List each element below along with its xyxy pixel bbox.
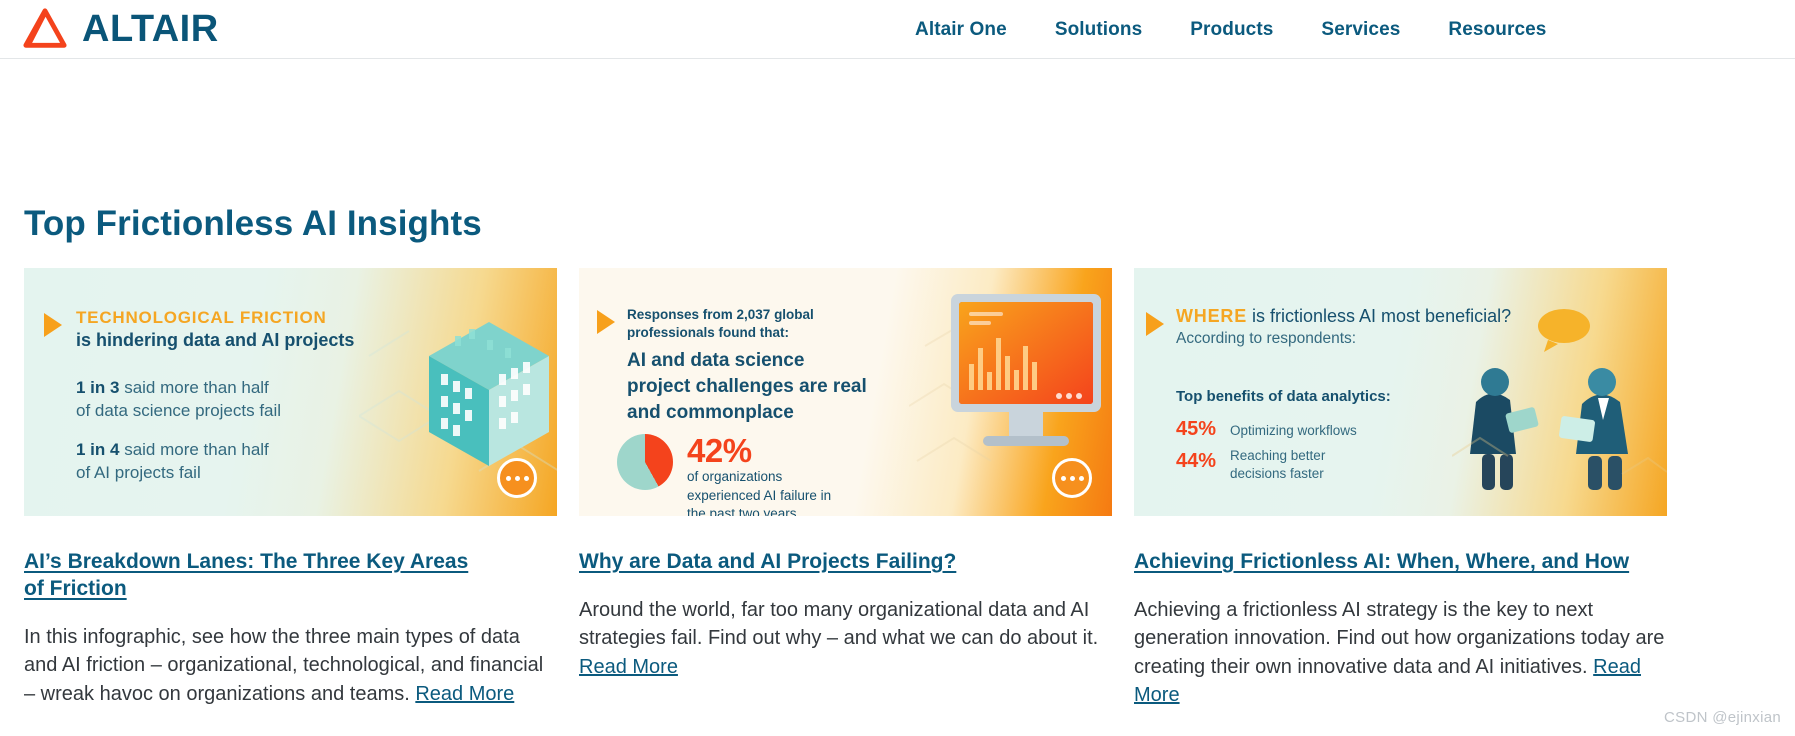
insights-card-list: TECHNOLOGICAL FRICTION is hindering data… [24, 268, 1667, 709]
play-triangle-icon [597, 310, 615, 334]
play-triangle-icon [44, 313, 62, 337]
stat-1-line2: of data science projects fail [76, 401, 281, 421]
benefit-1-label: Optimizing workflows [1230, 423, 1357, 438]
benefit-1-percent: 45% [1176, 418, 1216, 441]
page-title: Top Frictionless AI Insights [24, 204, 482, 244]
main-navigation: Altair One Solutions Products Services R… [915, 0, 1546, 59]
infographic-subheading: According to respondents: [1176, 330, 1356, 348]
benefit-2-label-line2: decisions faster [1230, 465, 1325, 483]
infographic-kicker-line1: Responses from 2,037 global [627, 306, 814, 324]
infographic-heading-rest: is frictionless AI most beneficial? [1247, 306, 1511, 326]
benefits-list-title: Top benefits of data analytics: [1176, 388, 1391, 405]
insight-card: Responses from 2,037 global professional… [579, 268, 1112, 709]
pct-desc-line3: the past two years [687, 505, 831, 516]
infographic-heading-rest: is hindering data and AI projects [76, 330, 354, 351]
nav-item-altair-one[interactable]: Altair One [915, 19, 1007, 41]
benefit-2-percent: 44% [1176, 450, 1216, 473]
card-infographic[interactable]: TECHNOLOGICAL FRICTION is hindering data… [24, 268, 557, 516]
pct-desc-line2: experienced AI failure in [687, 487, 831, 506]
pct-desc-line1: of organizations [687, 468, 831, 487]
card-infographic[interactable]: Responses from 2,037 global professional… [579, 268, 1112, 516]
altair-triangle-logo-icon [22, 6, 68, 52]
watermark-text: CSDN @ejinxian [1664, 709, 1781, 726]
stat-2-value: 1 in 4 [76, 440, 119, 459]
nav-item-products[interactable]: Products [1190, 19, 1273, 41]
card-title-link[interactable]: Achieving Frictionless AI: When, Where, … [1134, 549, 1667, 576]
infographic-headline-line3: and commonplace [627, 400, 867, 426]
nav-item-services[interactable]: Services [1321, 19, 1400, 41]
page-body: Top Frictionless AI Insights [0, 59, 1795, 736]
card-description: Achieving a frictionless AI strategy is … [1134, 596, 1667, 710]
card-title-link[interactable]: Why are Data and AI Projects Failing? [579, 549, 1112, 576]
card-infographic[interactable]: WHERE is frictionless AI most beneficial… [1134, 268, 1667, 516]
play-triangle-icon [1146, 312, 1164, 336]
stat-2-text: said more than half [119, 440, 268, 459]
failure-rate-percent: 42% [687, 432, 752, 470]
infographic-headline-line1: AI and data science [627, 348, 867, 374]
insight-card: TECHNOLOGICAL FRICTION is hindering data… [24, 268, 557, 709]
infographic-headline-line2: project challenges are real [627, 374, 867, 400]
stat-2-line2: of AI projects fail [76, 463, 201, 483]
ellipsis-more-icon-button[interactable] [497, 458, 537, 498]
card-description: In this infographic, see how the three m… [24, 623, 557, 708]
infographic-kicker-line2: professionals found that: [627, 324, 814, 342]
card-description-text: Around the world, far too many organizat… [579, 599, 1098, 649]
insight-card: WHERE is frictionless AI most beneficial… [1134, 268, 1667, 709]
brand-logo-link[interactable]: ALTAIR [22, 6, 219, 52]
infographic-heading-accent: TECHNOLOGICAL FRICTION [76, 308, 327, 328]
card-description-text: Achieving a frictionless AI strategy is … [1134, 599, 1664, 678]
ellipsis-more-icon-button[interactable] [1052, 458, 1092, 498]
infographic-heading-accent: WHERE [1176, 306, 1247, 326]
brand-name: ALTAIR [82, 10, 219, 48]
site-header: ALTAIR Altair One Solutions Products Ser… [0, 0, 1795, 59]
nav-item-solutions[interactable]: Solutions [1055, 19, 1142, 41]
stat-1-text: said more than half [119, 378, 268, 397]
people-collaboration-illustration-icon [1452, 306, 1667, 496]
card-title-link[interactable]: AI’s Breakdown Lanes: The Three Key Area… [24, 549, 557, 603]
stat-1-value: 1 in 3 [76, 378, 119, 397]
benefit-2-label-line1: Reaching better [1230, 447, 1325, 465]
failure-rate-pie-chart [617, 434, 673, 490]
card-description: Around the world, far too many organizat… [579, 596, 1112, 681]
read-more-link[interactable]: Read More [415, 683, 514, 705]
read-more-link[interactable]: Read More [579, 656, 678, 678]
nav-item-resources[interactable]: Resources [1448, 19, 1546, 41]
